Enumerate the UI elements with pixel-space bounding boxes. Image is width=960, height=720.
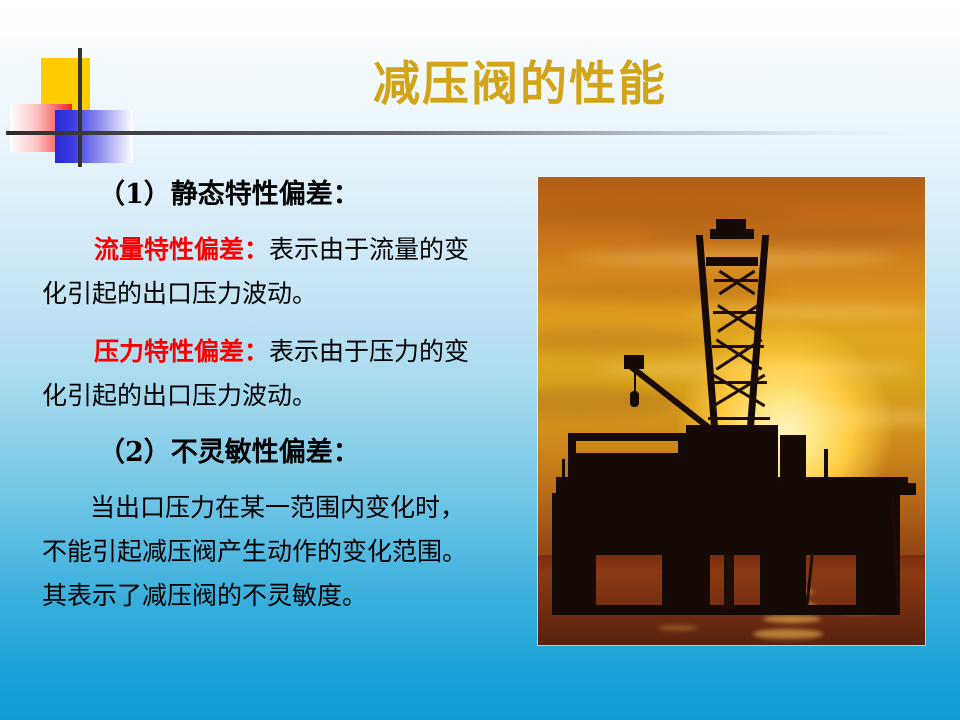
platform-mast-right	[824, 449, 828, 483]
platform-support-column	[662, 553, 710, 611]
text-flow-deviation-line-1-rest: 表示由于流量的变	[269, 235, 469, 264]
derrick-brace	[708, 417, 770, 420]
platform-support-column	[856, 553, 900, 611]
sun-reflection-glint	[763, 615, 821, 623]
crane-hook	[630, 391, 639, 407]
derrick-crown-platform	[706, 257, 758, 266]
sun-reflection-glint	[753, 629, 823, 639]
platform-deck-extension-right	[838, 483, 916, 495]
platform-gantry-leg-right	[678, 433, 686, 483]
text-pressure-deviation-line-1-rest: 表示由于压力的变	[269, 337, 469, 366]
platform-antenna-left	[562, 459, 565, 483]
derrick-brace	[710, 381, 767, 384]
sun-reflection-glint	[658, 625, 698, 631]
body-text-column: （1）静态特性偏差： 流量特性偏差：表示由于流量的变 化引起的出口压力波动。 压…	[42, 172, 524, 618]
platform-gantry-frame	[568, 433, 686, 441]
horizontal-rule-divider	[6, 131, 946, 135]
label-flow-characteristic-deviation: 流量特性偏差：	[94, 235, 269, 264]
derrick-brace	[713, 311, 761, 314]
paragraph-pressure-deviation-line-2: 化引起的出口压力波动。	[42, 374, 524, 418]
paragraph-flow-deviation-line-2: 化引起的出口压力波动。	[42, 272, 524, 316]
heading-insensitivity-deviation: （2）不灵敏性偏差：	[42, 430, 524, 476]
paragraph-insensitivity-line-3: 其表示了减压阀的不灵敏度。	[42, 574, 524, 618]
derrick-crown-cap	[716, 219, 746, 231]
platform-gantry-leg-left	[568, 433, 576, 483]
platform-support-column	[760, 553, 806, 611]
platform-support-column	[552, 553, 596, 611]
vertical-rule-shape	[78, 48, 82, 167]
paragraph-insensitivity-line-2: 不能引起减压阀产生动作的变化范围。	[42, 530, 524, 574]
slide-root: 减压阀的性能 （1）静态特性偏差： 流量特性偏差：表示由于流量的变 化引起的出口…	[0, 0, 960, 720]
platform-riser-center	[724, 555, 734, 609]
paragraph-insensitivity-line-1: 当出口压力在某一范围内变化时，	[42, 486, 524, 530]
blue-gradient-rectangle-shape	[55, 110, 133, 163]
decorative-logo-group	[0, 0, 300, 200]
platform-main-hull	[552, 493, 900, 555]
platform-module-left	[574, 453, 678, 483]
platform-superstructure-center	[686, 425, 778, 481]
heading-static-characteristic-deviation: （1）静态特性偏差：	[42, 172, 524, 218]
paragraph-pressure-deviation-line-1: 压力特性偏差：表示由于压力的变	[42, 330, 524, 374]
oil-rig-sunset-photo	[538, 177, 925, 645]
paragraph-flow-deviation-line-1: 流量特性偏差：表示由于流量的变	[42, 228, 524, 272]
label-pressure-characteristic-deviation: 压力特性偏差：	[94, 337, 269, 366]
derrick-brace	[712, 345, 764, 348]
platform-stack-right	[780, 435, 806, 481]
